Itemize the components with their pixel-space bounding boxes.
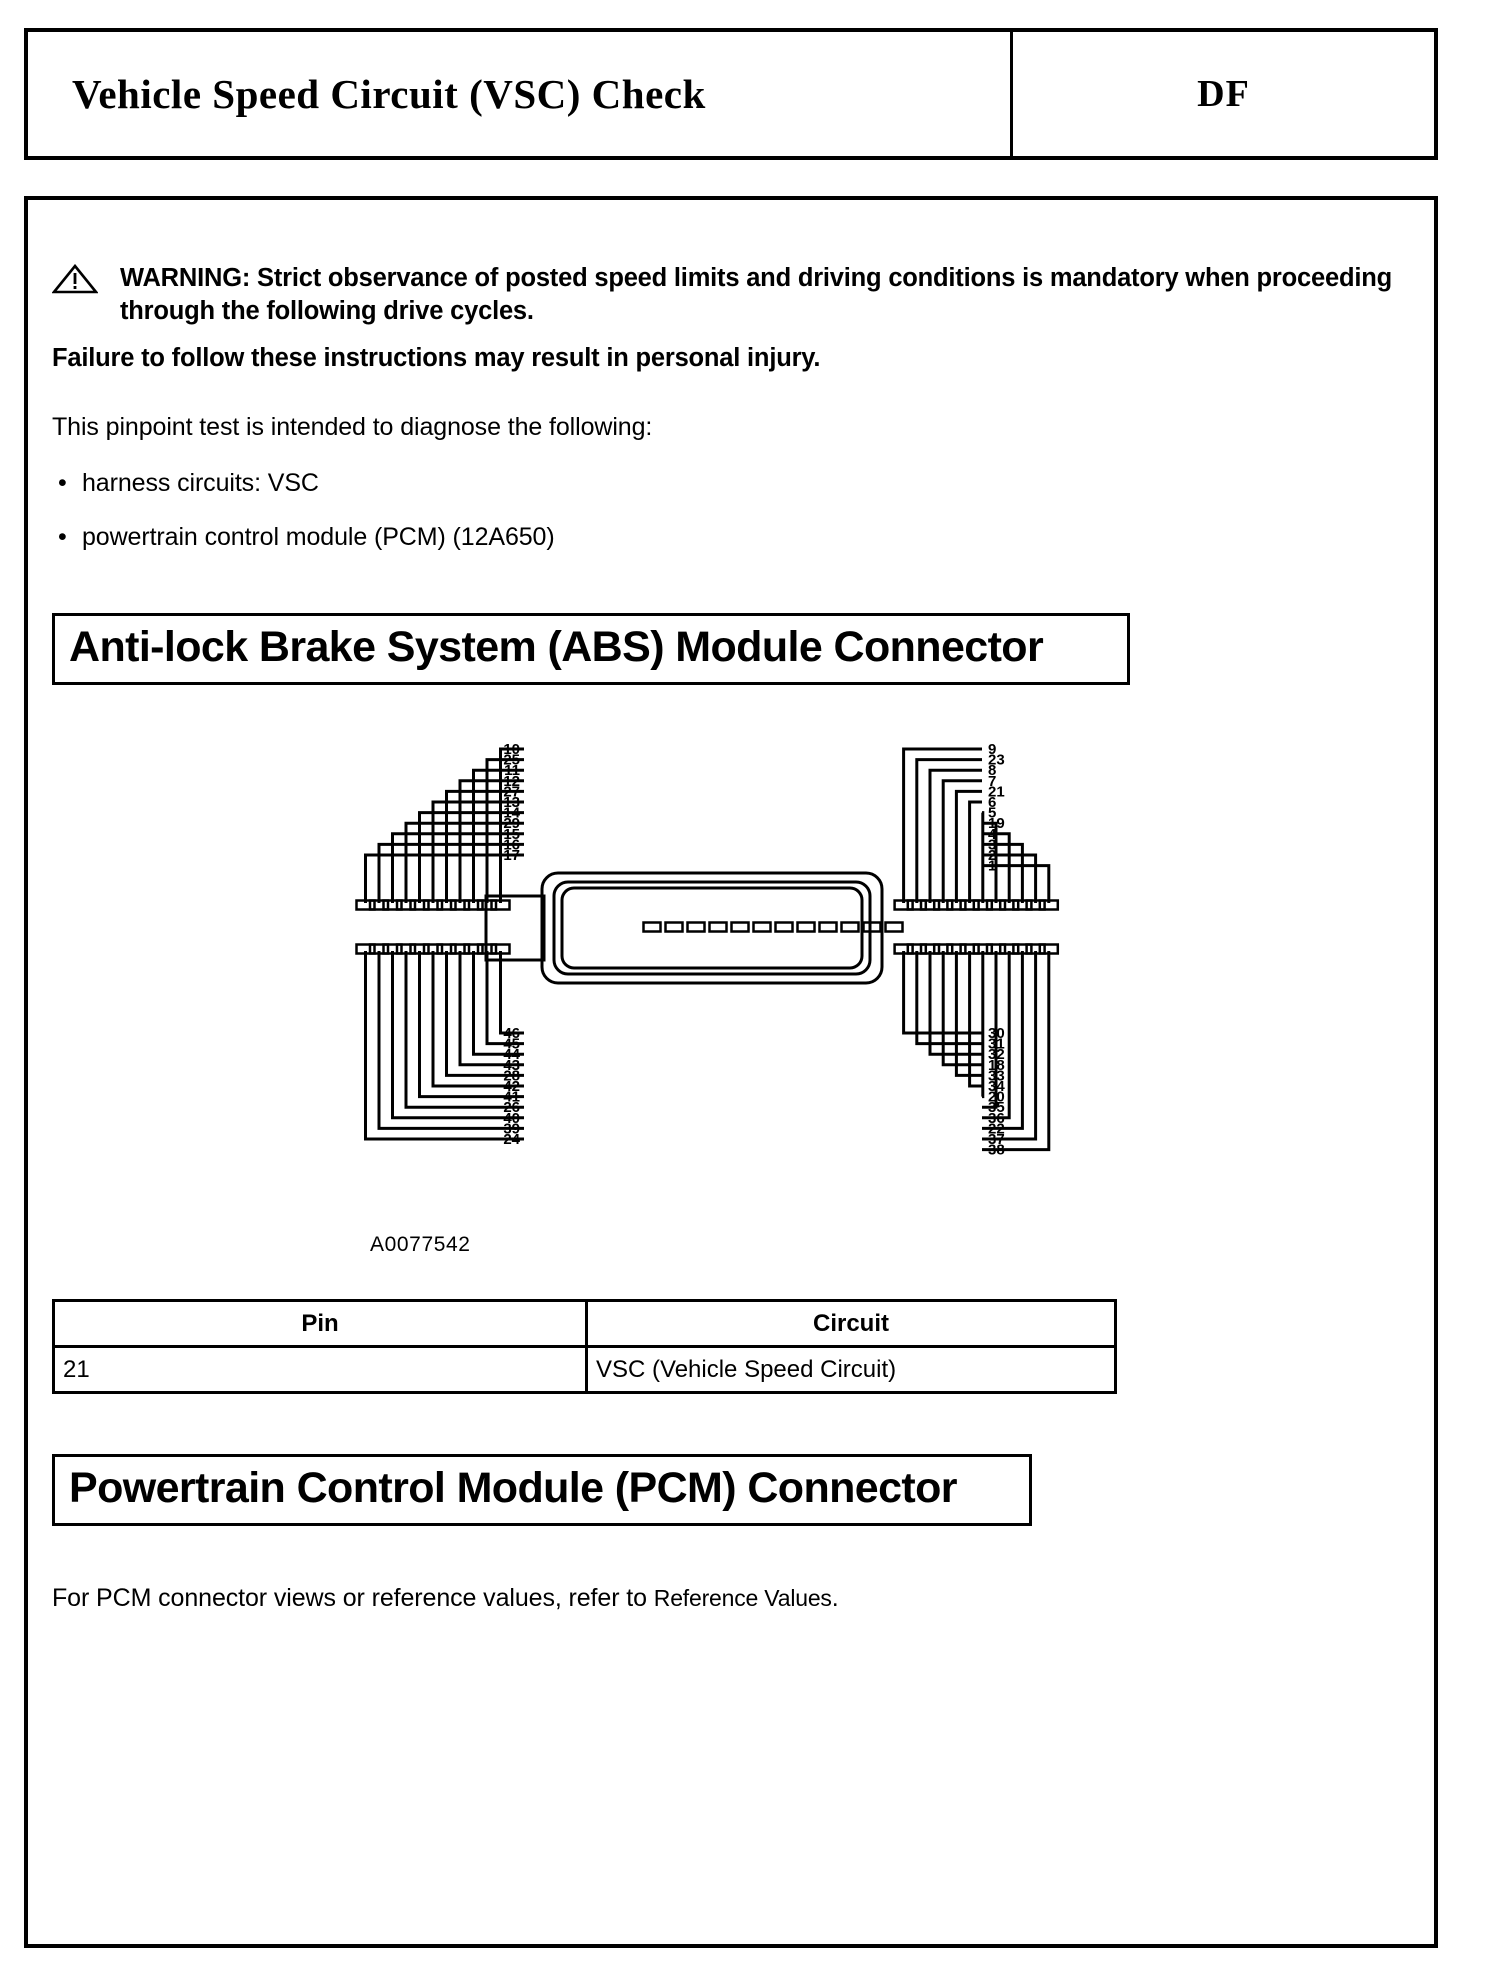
page-title: Vehicle Speed Circuit (VSC) Check: [72, 70, 706, 118]
note-prefix: For PCM connector views or reference val…: [52, 1584, 654, 1612]
cell-circuit: VSC (Vehicle Speed Circuit): [587, 1347, 1116, 1393]
abs-connector-diagram: 1025111227131429151617923872165194321464…: [52, 733, 1410, 1203]
connector-pinout-svg: 1025111227131429151617923872165194321464…: [52, 733, 1418, 1203]
warning-second-line: Failure to follow these instructions may…: [52, 342, 1410, 375]
svg-text:38: 38: [988, 1142, 1005, 1159]
svg-text:17: 17: [503, 847, 520, 864]
intro-paragraph: This pinpoint test is intended to diagno…: [52, 411, 1410, 443]
content-column: WARNING: Strict observance of posted spe…: [52, 262, 1410, 1614]
header-title-cell: Vehicle Speed Circuit (VSC) Check: [28, 32, 1013, 156]
warning-text: WARNING: Strict observance of posted spe…: [120, 262, 1410, 328]
abs-section-heading: Anti-lock Brake System (ABS) Module Conn…: [69, 622, 1113, 672]
warning-triangle-icon: [52, 264, 98, 294]
pin-circuit-table: Pin Circuit 21 VSC (Vehicle Speed Circui…: [52, 1299, 1117, 1394]
pcm-section-heading: Powertrain Control Module (PCM) Connecto…: [69, 1463, 1015, 1513]
list-item: • harness circuits: VSC: [52, 467, 1410, 499]
bullet-icon: •: [58, 521, 67, 553]
pcm-section-heading-box: Powertrain Control Module (PCM) Connecto…: [52, 1454, 1032, 1526]
page-content-frame: WARNING: Strict observance of posted spe…: [24, 196, 1438, 1948]
bullet-icon: •: [58, 467, 67, 499]
cell-pin: 21: [54, 1347, 587, 1393]
section-code: DF: [1197, 72, 1250, 116]
figure-id: A0077542: [370, 1233, 471, 1257]
reference-values-link[interactable]: Reference Values: [654, 1585, 832, 1611]
warning-block: WARNING: Strict observance of posted spe…: [52, 262, 1410, 375]
header-section-code-cell: DF: [1013, 32, 1434, 156]
list-item: • powertrain control module (PCM) (12A65…: [52, 521, 1410, 553]
pcm-reference-note: For PCM connector views or reference val…: [52, 1582, 1410, 1614]
abs-section-heading-box: Anti-lock Brake System (ABS) Module Conn…: [52, 613, 1130, 685]
table-row: 21 VSC (Vehicle Speed Circuit): [54, 1347, 1116, 1393]
column-header-pin: Pin: [54, 1301, 587, 1347]
table-header-row: Pin Circuit: [54, 1301, 1116, 1347]
note-suffix: .: [832, 1584, 839, 1612]
warning-first-line: WARNING: Strict observance of posted spe…: [52, 262, 1410, 328]
svg-text:1: 1: [988, 858, 996, 875]
list-item-label: harness circuits: VSC: [82, 469, 319, 497]
diagnose-list: • harness circuits: VSC • powertrain con…: [52, 467, 1410, 553]
column-header-circuit: Circuit: [587, 1301, 1116, 1347]
list-item-label: powertrain control module (PCM) (12A650): [82, 523, 555, 551]
page-header: Vehicle Speed Circuit (VSC) Check DF: [24, 28, 1438, 160]
svg-text:24: 24: [503, 1131, 520, 1148]
